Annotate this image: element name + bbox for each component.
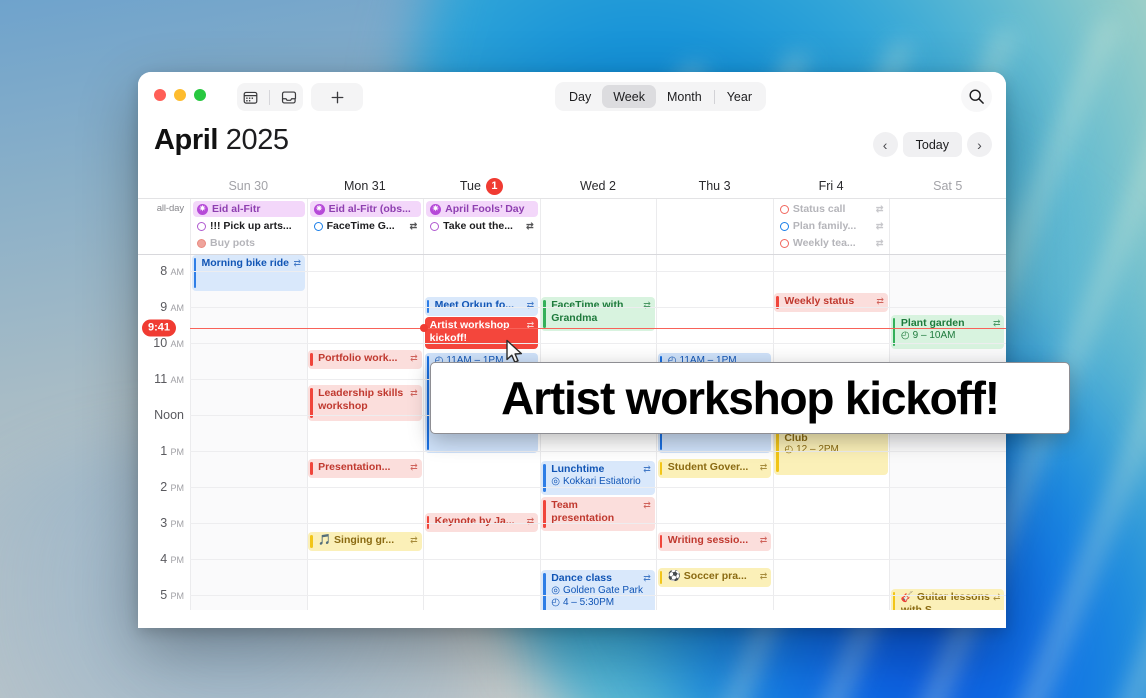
hour-gridline: [190, 595, 1006, 596]
repeat-icon: ⇄: [410, 534, 418, 547]
traffic-lights: [154, 89, 206, 101]
all-day-event[interactable]: Status call⇄: [776, 201, 888, 217]
event-time: ◴9 – 10AM: [901, 330, 1001, 343]
day-header-row: Sun 30Mon 31Tue1Wed 2Thu 3Fri 4Sat 5: [138, 174, 1006, 199]
repeat-icon: ⇄: [876, 238, 884, 249]
all-day-column[interactable]: ✷April Fools’ DayTake out the...⇄: [423, 199, 540, 254]
event-title: Writing sessio...: [668, 534, 757, 547]
hour-label: 4 PM: [160, 552, 184, 566]
event-title: 🎸 Guitar lessons with S: [901, 591, 990, 610]
calendar-event[interactable]: FaceTime with Grandma⇄: [541, 297, 655, 331]
hour-gridline: [190, 523, 1006, 524]
previous-week-button[interactable]: ‹: [873, 132, 898, 157]
day-header-wed[interactable]: Wed 2: [540, 174, 657, 198]
all-day-event-title: FaceTime G...: [327, 220, 406, 232]
hour-label: Noon: [154, 408, 184, 422]
day-header-label: Mon 31: [344, 179, 386, 193]
all-day-column[interactable]: [540, 199, 657, 254]
calendar-event-selected[interactable]: Artist workshop kickoff!⇄: [425, 317, 539, 349]
event-color-bar: [427, 356, 430, 450]
all-day-event-title: Buy pots: [210, 237, 301, 249]
event-title: Artist workshop kickoff!: [430, 319, 524, 344]
event-color-bar: [660, 462, 663, 475]
tab-week[interactable]: Week: [602, 85, 656, 108]
reminder-checkbox[interactable]: [780, 239, 789, 248]
all-day-event-title: Eid al-Fitr (obs...: [329, 203, 418, 215]
view-switcher: Day Week Month Year: [555, 82, 766, 111]
event-title: Presentation...: [318, 461, 407, 474]
day-header-gutter: [138, 174, 190, 198]
repeat-icon: ⇄: [876, 204, 884, 215]
day-header-fri[interactable]: Fri 4: [773, 174, 890, 198]
reminder-checkbox[interactable]: [197, 239, 206, 248]
add-event-button[interactable]: [311, 83, 363, 111]
hour-gutter: 8 AM9 AM10 AM11 AMNoon1 PM2 PM3 PM4 PM5 …: [138, 255, 190, 610]
tab-year[interactable]: Year: [716, 85, 763, 108]
hour-label: 2 PM: [160, 480, 184, 494]
all-day-event-title: Weekly tea...: [793, 237, 872, 249]
hour-gridline: [190, 451, 1006, 452]
zoom-button[interactable]: [194, 89, 206, 101]
plus-icon: [330, 90, 345, 105]
hour-gridline: [190, 487, 1006, 488]
event-time: ◴4 – 5:30PM: [551, 597, 651, 610]
event-color-bar: [543, 573, 546, 610]
event-title: Dance class: [551, 572, 640, 585]
search-button[interactable]: [961, 81, 992, 112]
repeat-icon: ⇄: [643, 572, 651, 585]
event-color-bar: [310, 535, 313, 548]
day-header-label: Sat 5: [933, 179, 962, 193]
event-title: Keynote by Ja...: [435, 515, 524, 528]
day-header-label: Thu 3: [699, 179, 731, 193]
repeat-icon: ⇄: [526, 221, 534, 232]
event-title: Meet Orkun fo...: [435, 299, 524, 312]
all-day-event[interactable]: Weekly tea...⇄: [776, 235, 888, 251]
month-name: April: [154, 124, 218, 156]
holiday-star-icon: ✷: [197, 204, 208, 215]
calendar-event[interactable]: Lunchtime⇄◎Kokkari Estiatorio: [541, 461, 655, 495]
all-day-event[interactable]: ✷Eid al-Fitr: [193, 201, 305, 217]
all-day-column[interactable]: ✷Eid al-Fitr!!! Pick up arts...Buy pots: [190, 199, 307, 254]
all-day-event-title: !!! Pick up arts...: [210, 220, 301, 232]
event-color-bar: [310, 388, 313, 418]
all-day-event-title: April Fools’ Day: [445, 203, 534, 215]
event-color-bar: [310, 353, 313, 366]
repeat-icon: ⇄: [410, 461, 418, 474]
reminder-checkbox[interactable]: [780, 222, 789, 231]
repeat-icon: ⇄: [294, 257, 302, 270]
page-title: April 2025: [154, 124, 289, 157]
event-color-bar: [893, 318, 896, 346]
view-switcher-divider: [714, 90, 715, 104]
reminder-checkbox[interactable]: [197, 222, 206, 231]
hour-label: 5 PM: [160, 588, 184, 602]
event-title: FaceTime with Grandma: [551, 299, 640, 324]
calendar-event[interactable]: Dance class⇄◎Golden Gate Park◴4 – 5:30PM: [541, 570, 655, 610]
all-day-column[interactable]: ✷Eid al-Fitr (obs...FaceTime G...⇄: [307, 199, 424, 254]
tab-day[interactable]: Day: [558, 85, 602, 108]
repeat-icon: ⇄: [527, 299, 535, 312]
all-day-event-title: Eid al-Fitr: [212, 203, 301, 215]
calendar-icon[interactable]: [243, 90, 258, 105]
day-header-label: Tue: [460, 179, 481, 193]
event-title: Lunchtime: [551, 463, 640, 476]
repeat-icon: ⇄: [760, 570, 768, 583]
current-time-dot: [420, 324, 428, 332]
repeat-icon: ⇄: [527, 319, 535, 332]
day-header-thu[interactable]: Thu 3: [656, 174, 773, 198]
hour-label: 11 AM: [154, 372, 184, 386]
all-day-event-title: Status call: [793, 203, 872, 215]
event-title: Morning bike ride: [202, 257, 291, 270]
today-button[interactable]: Today: [903, 132, 962, 157]
repeat-icon: ⇄: [643, 499, 651, 512]
calendar-event[interactable]: ⚽ Soccer pra...⇄: [658, 568, 772, 587]
event-title: ⚽ Soccer pra...: [668, 570, 757, 583]
calendar-event[interactable]: Writing sessio...⇄: [658, 532, 772, 551]
all-day-row: all-day ✷Eid al-Fitr!!! Pick up arts...B…: [138, 199, 1006, 255]
today-badge: 1: [486, 178, 503, 195]
day-column-mon[interactable]: [307, 255, 424, 610]
date-navigation: ‹ Today ›: [873, 132, 992, 157]
toolbar-divider: [269, 90, 270, 105]
calendar-event[interactable]: Team presentation⇄: [541, 497, 655, 531]
all-day-event-title: Take out the...: [443, 220, 522, 232]
inbox-icon[interactable]: [281, 90, 297, 105]
all-day-column[interactable]: [889, 199, 1006, 254]
reminder-checkbox[interactable]: [780, 205, 789, 214]
hour-label: 8 AM: [160, 264, 184, 278]
month-header: April 2025 ‹ Today ›: [138, 122, 1006, 174]
event-color-bar: [660, 571, 663, 584]
all-day-event[interactable]: FaceTime G...⇄: [310, 218, 422, 234]
reminder-checkbox[interactable]: [314, 222, 323, 231]
next-week-button[interactable]: ›: [967, 132, 992, 157]
calendar-event[interactable]: Morning bike ride⇄: [192, 255, 306, 291]
day-header-label: Wed 2: [580, 179, 616, 193]
all-day-event[interactable]: ✷Eid al-Fitr (obs...: [310, 201, 422, 217]
all-day-event[interactable]: !!! Pick up arts...: [193, 218, 305, 234]
event-title: Portfolio work...: [318, 352, 407, 365]
all-day-event-title: Plan family...: [793, 220, 872, 232]
repeat-icon: ⇄: [876, 221, 884, 232]
all-day-column[interactable]: [656, 199, 773, 254]
event-color-bar: [543, 300, 546, 328]
event-color-bar: [660, 535, 663, 548]
day-column-sun[interactable]: [190, 255, 307, 610]
clock-icon: ◴: [901, 330, 910, 343]
repeat-icon: ⇄: [410, 352, 418, 365]
hour-gridline: [190, 343, 1006, 344]
all-day-event[interactable]: Take out the...⇄: [426, 218, 538, 234]
window-toolbar: Day Week Month Year: [138, 72, 1006, 122]
event-title: 🎵 Singing gr...: [318, 534, 407, 547]
repeat-icon: ⇄: [993, 591, 1001, 604]
zoom-text-tooltip: Artist workshop kickoff!: [430, 362, 1070, 434]
toolbar-mode-group: [237, 83, 303, 111]
day-header-label: Fri 4: [819, 179, 844, 193]
hour-label: 10 AM: [153, 336, 184, 350]
repeat-icon: ⇄: [643, 299, 651, 312]
repeat-icon: ⇄: [410, 387, 418, 400]
calendar-event[interactable]: 🎸 Guitar lessons with S⇄: [891, 589, 1005, 610]
hour-label: 3 PM: [160, 516, 184, 530]
day-header-sun[interactable]: Sun 30: [190, 174, 307, 198]
event-title: Team presentation: [551, 499, 640, 524]
hour-label: 9 AM: [160, 300, 184, 314]
all-day-event[interactable]: Buy pots: [193, 235, 305, 251]
minimize-button[interactable]: [174, 89, 186, 101]
calendar-window: Day Week Month Year April 2025 ‹ Today ›…: [138, 72, 1006, 628]
holiday-star-icon: ✷: [314, 204, 325, 215]
day-header-tue[interactable]: Tue1: [423, 174, 540, 198]
repeat-icon: ⇄: [760, 534, 768, 547]
event-title: Weekly status: [784, 295, 873, 308]
repeat-icon: ⇄: [643, 463, 651, 476]
holiday-star-icon: ✷: [430, 204, 441, 215]
event-color-bar: [194, 258, 197, 288]
calendar-event[interactable]: Student Gover...⇄: [658, 459, 772, 478]
event-title: Student Gover...: [668, 461, 757, 474]
repeat-icon: ⇄: [410, 221, 418, 232]
current-time-badge: 9:41: [142, 319, 176, 336]
tab-month[interactable]: Month: [656, 85, 713, 108]
hour-gridline: [190, 559, 1006, 560]
event-color-bar: [310, 462, 313, 475]
repeat-icon: ⇄: [760, 461, 768, 474]
day-header-mon[interactable]: Mon 31: [307, 174, 424, 198]
all-day-label: all-day: [138, 199, 190, 254]
calendar-event[interactable]: Presentation...⇄: [308, 459, 422, 478]
reminder-checkbox[interactable]: [430, 222, 439, 231]
day-header-sat[interactable]: Sat 5: [889, 174, 1006, 198]
zoom-text-tooltip-label: Artist workshop kickoff!: [501, 371, 999, 425]
all-day-event[interactable]: ✷April Fools’ Day: [426, 201, 538, 217]
calendar-event[interactable]: Portfolio work...⇄: [308, 350, 422, 369]
year-label: 2025: [226, 124, 289, 156]
current-time-line: [190, 328, 1006, 329]
clock-icon: ◴: [551, 597, 560, 610]
hour-gridline: [190, 307, 1006, 308]
hour-label: 1 PM: [160, 444, 184, 458]
all-day-event[interactable]: Plan family...⇄: [776, 218, 888, 234]
calendar-event[interactable]: Weekly status⇄: [774, 293, 888, 312]
calendar-event[interactable]: 🎵 Singing gr...⇄: [308, 532, 422, 551]
event-title: Leadership skills workshop: [318, 387, 407, 412]
repeat-icon: ⇄: [876, 295, 884, 308]
close-button[interactable]: [154, 89, 166, 101]
all-day-column[interactable]: Status call⇄Plan family...⇄Weekly tea...…: [773, 199, 890, 254]
day-header-label: Sun 30: [228, 179, 268, 193]
search-icon: [968, 88, 985, 105]
hour-gridline: [190, 271, 1006, 272]
repeat-icon: ⇄: [527, 515, 535, 528]
